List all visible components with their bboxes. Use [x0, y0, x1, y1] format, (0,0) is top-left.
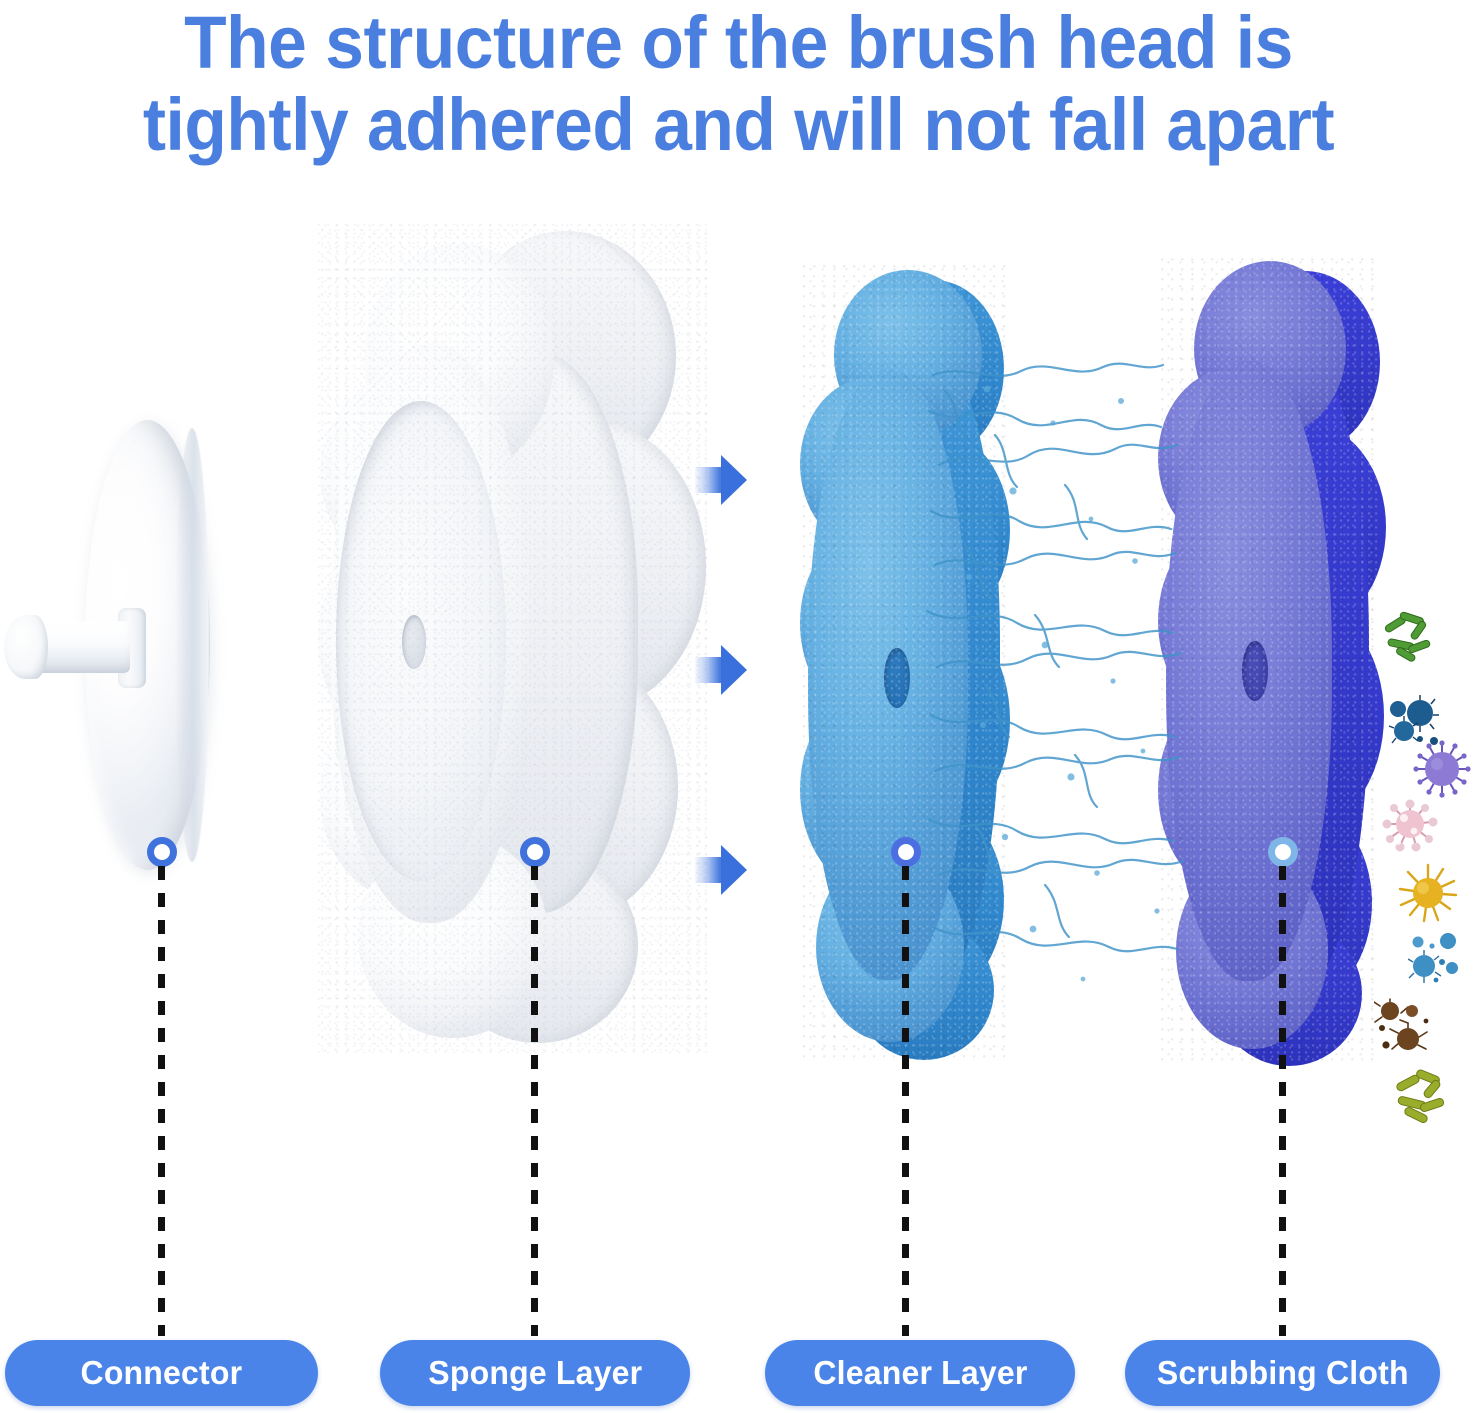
flow-arrow-top: [695, 455, 747, 505]
callout-marker-connector[interactable]: [147, 837, 177, 867]
label-pill-sponge-layer-text: Sponge Layer: [428, 1354, 642, 1392]
light-blue-cocci-cluster-icon: [1408, 932, 1466, 988]
sponge-center-hole: [402, 615, 426, 669]
infographic-canvas: The structure of the brush head is tight…: [0, 0, 1477, 1413]
purple-spiky-virus-icon: [1413, 740, 1471, 798]
olive-rod-bacteria-icon: [1390, 1067, 1452, 1129]
callout-leader-connector: [158, 866, 165, 1336]
yellow-spiky-virus-icon: [1398, 863, 1458, 923]
exploded-view-scene: [0, 195, 1477, 1095]
brown-microbe-cluster-icon: [1374, 995, 1436, 1053]
flow-arrow-bottom: [695, 845, 747, 895]
label-pill-sponge-layer[interactable]: Sponge Layer: [380, 1340, 690, 1406]
callout-leader-sponge-layer: [531, 866, 538, 1336]
arrow-head-icon: [721, 845, 747, 895]
arrow-head-icon: [721, 455, 747, 505]
cloth-front-face: [1158, 253, 1378, 1063]
germs-column: [1368, 395, 1477, 935]
callout-marker-scrubbing-cloth[interactable]: [1268, 837, 1298, 867]
arrow-head-icon: [721, 645, 747, 695]
label-pill-scrubbing-cloth[interactable]: Scrubbing Cloth: [1125, 1340, 1440, 1406]
title-line-1: The structure of the brush head is: [44, 2, 1432, 84]
label-pill-connector-text: Connector: [81, 1354, 243, 1392]
callout-leader-scrubbing-cloth: [1279, 866, 1286, 1336]
cleaner-center-hole: [884, 648, 910, 708]
label-pill-cleaner-layer[interactable]: Cleaner Layer: [765, 1340, 1075, 1406]
connector-peg-tip: [4, 615, 48, 679]
pink-white-bacteria-icon: [1382, 798, 1442, 856]
page-title: The structure of the brush head is tight…: [44, 2, 1432, 166]
connector-part: [0, 410, 290, 910]
callout-marker-cleaner-layer[interactable]: [891, 837, 921, 867]
title-line-2: tightly adhered and will not fall apart: [44, 84, 1432, 166]
label-pill-cleaner-layer-text: Cleaner Layer: [813, 1354, 1027, 1392]
scrubbing-cloth-part: [1158, 253, 1378, 1063]
callout-marker-sponge-layer[interactable]: [520, 837, 550, 867]
connector-disc-rim: [175, 428, 209, 862]
green-rod-bacteria-icon: [1378, 607, 1440, 669]
label-pill-scrubbing-cloth-text: Scrubbing Cloth: [1157, 1354, 1409, 1392]
label-pill-connector[interactable]: Connector: [5, 1340, 318, 1406]
flow-arrow-middle: [695, 645, 747, 695]
sponge-layer-part: [318, 223, 708, 1053]
callout-leader-cleaner-layer: [902, 866, 909, 1336]
cloth-center-hole: [1242, 641, 1268, 701]
